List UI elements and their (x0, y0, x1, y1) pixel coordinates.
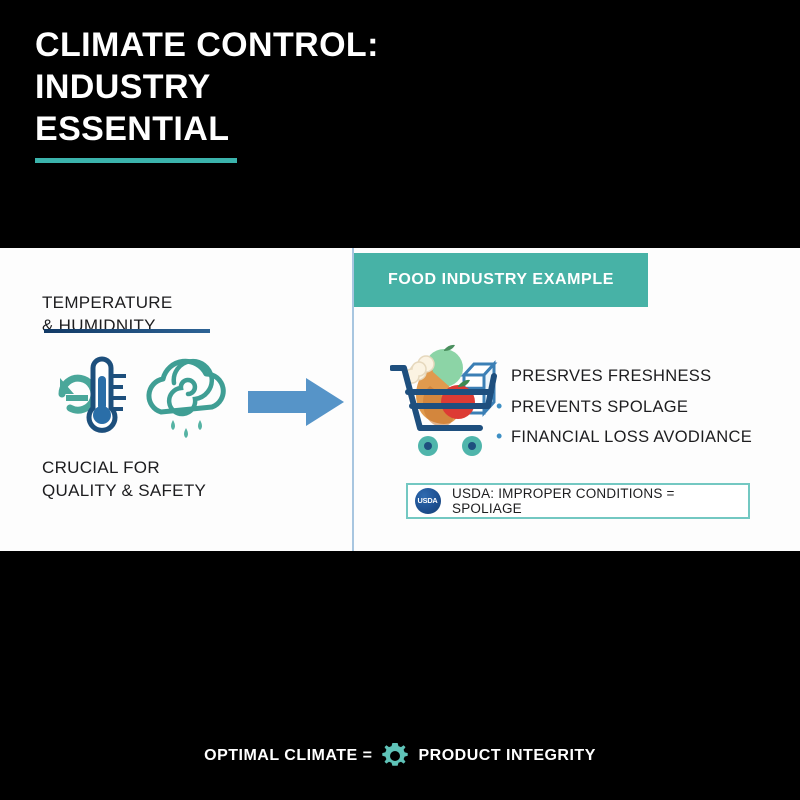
left-panel-rule (44, 329, 210, 333)
list-item-label: PREVENTS SPOLAGE (511, 393, 688, 421)
benefit-list: • PRESRVES FRESHNESS • PREVENTS SPOLAGE … (496, 360, 796, 452)
shopping-cart-groceries-icon (390, 336, 500, 461)
bullet-icon: • (496, 421, 511, 452)
food-industry-badge-label: FOOD INDUSTRY EXAMPLE (388, 271, 614, 289)
list-item: • PRESRVES FRESHNESS (496, 360, 796, 391)
usda-seal-icon: USDA (415, 488, 441, 514)
left-panel-caption: CRUCIAL FOR QUALITY & SAFETY (42, 457, 206, 503)
gear-icon (381, 742, 409, 770)
left-panel-icon-group (36, 350, 246, 446)
food-industry-badge: FOOD INDUSTRY EXAMPLE (354, 253, 648, 307)
right-panel: FOOD INDUSTRY EXAMPLE (354, 248, 800, 551)
usda-note-box: USDA USDA: IMPROPER CONDITIONS = SPOLIAG… (406, 483, 750, 519)
title-accent-rule (35, 158, 237, 163)
thermometer-refresh-icon (60, 359, 126, 430)
footer-right-text: PRODUCT INTEGRITY (418, 747, 595, 765)
list-item-label: FINANCIAL LOSS AVODIANCE (511, 423, 752, 451)
header: CLIMATE CONTROL: INDUSTRY ESSENTIAL (35, 24, 635, 150)
list-item: • PREVENTS SPOLAGE (496, 391, 796, 422)
page-title: CLIMATE CONTROL: INDUSTRY ESSENTIAL (35, 24, 635, 150)
content-band: TEMPERATURE & HUMIDNITY (0, 248, 800, 551)
footer-left-text: OPTIMAL CLIMATE = (204, 747, 372, 765)
bullet-icon: • (496, 391, 511, 422)
usda-seal-label: USDA (418, 498, 438, 505)
usda-note-text: USDA: IMPROPER CONDITIONS = SPOLIAGE (452, 486, 748, 516)
list-item: • FINANCIAL LOSS AVODIANCE (496, 421, 796, 452)
footer: OPTIMAL CLIMATE = PRODUCT INTEGRITY (0, 742, 800, 770)
right-arrow-icon (248, 376, 344, 428)
cloud-humidity-rain-icon (149, 361, 223, 438)
list-item-label: PRESRVES FRESHNESS (511, 362, 711, 390)
